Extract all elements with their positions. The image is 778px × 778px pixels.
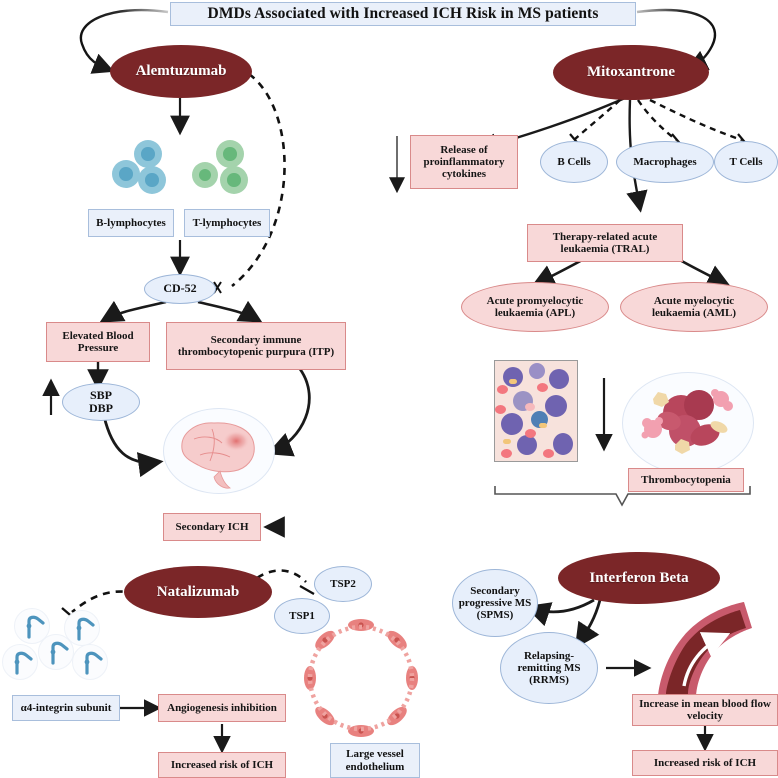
page-title: DMDs Associated with Increased ICH Risk … xyxy=(170,2,636,26)
box-angiogenesis-inhibition: Angiogenesis inhibition xyxy=(158,694,286,722)
brain-illustration xyxy=(163,408,275,494)
node-apl: Acute promyelocytic leukaemia (APL) xyxy=(461,282,609,332)
blood-smear-image xyxy=(494,360,578,462)
box-increased-risk-ich-right: Increased risk of ICH xyxy=(632,750,778,776)
node-t-cells: T Cells xyxy=(714,141,778,183)
drug-label-interferon-beta: Interferon Beta xyxy=(589,570,688,587)
itp-text: Secondary immune thrombocytopenic purpur… xyxy=(171,334,341,359)
cytokines-text: Release of proinflammatory cytokines xyxy=(414,144,514,181)
t-lymphocytes-text: T-lymphocytes xyxy=(193,217,262,229)
diagram-canvas: DMDs Associated with Increased ICH Risk … xyxy=(0,0,778,778)
label-t-lymphocytes: T-lymphocytes xyxy=(184,209,270,237)
label-b-lymphocytes: B-lymphocytes xyxy=(88,209,174,237)
node-tsp2: TSP2 xyxy=(314,566,372,602)
sbp-text: SBP xyxy=(90,389,112,402)
tral-text: Therapy-related acute leukaemia (TRAL) xyxy=(531,231,679,256)
b-lymphocyte-cells xyxy=(112,140,176,192)
node-macrophages: Macrophages xyxy=(616,141,714,183)
thrombocytopenia-text: Thrombocytopenia xyxy=(641,474,731,486)
increased-risk-ich-left-text: Increased risk of ICH xyxy=(171,759,273,771)
box-increased-risk-ich-left: Increased risk of ICH xyxy=(158,752,286,778)
label-alpha4-integrin: α4-integrin subunit xyxy=(12,695,120,721)
macrophages-text: Macrophages xyxy=(633,156,696,168)
aml-text: Acute myelocytic leukaemia (AML) xyxy=(629,295,759,320)
node-cd52: CD-52 xyxy=(144,274,216,304)
node-sbp-dbp: SBP DBP xyxy=(62,383,140,421)
node-spms: Secondary progressive MS (SPMS) xyxy=(452,569,538,637)
drug-node-alemtuzumab[interactable]: Alemtuzumab xyxy=(110,45,252,98)
vessel-endothelium-ring xyxy=(300,616,422,740)
box-mean-blood-flow-velocity: Increase in mean blood flow velocity xyxy=(632,694,778,726)
endothelium-text: Large vessel endothelium xyxy=(334,748,416,773)
drug-label-mitoxantrone: Mitoxantrone xyxy=(587,64,675,81)
box-elevated-blood-pressure: Elevated Blood Pressure xyxy=(46,322,150,362)
dbp-text: DBP xyxy=(89,402,113,415)
elevated-bp-text: Elevated Blood Pressure xyxy=(50,330,146,355)
box-thrombocytopenia: Thrombocytopenia xyxy=(628,468,744,492)
node-aml: Acute myelocytic leukaemia (AML) xyxy=(620,282,768,332)
apl-text: Acute promyelocytic leukaemia (APL) xyxy=(470,295,600,320)
b-lymphocytes-text: B-lymphocytes xyxy=(96,217,166,229)
tsp2-text: TSP2 xyxy=(330,578,356,590)
node-b-cells: B Cells xyxy=(540,141,608,183)
t-lymphocyte-cells xyxy=(192,140,256,192)
t-cells-text: T Cells xyxy=(729,156,762,168)
tsp1-text: TSP1 xyxy=(289,610,315,622)
label-large-vessel-endothelium: Large vessel endothelium xyxy=(330,743,420,778)
box-secondary-ich: Secondary ICH xyxy=(163,513,261,541)
drug-label-alemtuzumab: Alemtuzumab xyxy=(136,63,227,80)
artery-blood-flow-illustration xyxy=(648,602,752,698)
drug-node-natalizumab[interactable]: Natalizumab xyxy=(124,566,272,618)
b-cells-text: B Cells xyxy=(557,156,590,168)
rrms-text: Relapsing-remitting MS (RRMS) xyxy=(506,650,592,687)
node-rrms: Relapsing-remitting MS (RRMS) xyxy=(500,632,598,704)
node-tsp1: TSP1 xyxy=(274,598,330,634)
page-title-text: DMDs Associated with Increased ICH Risk … xyxy=(208,5,599,22)
alpha4-integrin-receptors xyxy=(2,608,106,680)
increased-risk-ich-right-text: Increased risk of ICH xyxy=(654,757,756,769)
secondary-ich-text: Secondary ICH xyxy=(175,521,248,533)
alpha4-integrin-text: α4-integrin subunit xyxy=(21,702,112,714)
box-itp: Secondary immune thrombocytopenic purpur… xyxy=(166,322,346,370)
thrombocytopenia-illustration xyxy=(622,372,754,474)
drug-node-mitoxantrone[interactable]: Mitoxantrone xyxy=(553,45,709,100)
drug-label-natalizumab: Natalizumab xyxy=(157,584,240,601)
blood-flow-text: Increase in mean blood flow velocity xyxy=(636,698,774,723)
box-tral: Therapy-related acute leukaemia (TRAL) xyxy=(527,224,683,262)
box-proinflammatory-cytokines: Release of proinflammatory cytokines xyxy=(410,135,518,189)
angiogenesis-inhibition-text: Angiogenesis inhibition xyxy=(167,702,277,714)
drug-node-interferon-beta[interactable]: Interferon Beta xyxy=(558,552,720,604)
cd52-text: CD-52 xyxy=(163,282,196,295)
spms-text: Secondary progressive MS (SPMS) xyxy=(456,585,534,622)
